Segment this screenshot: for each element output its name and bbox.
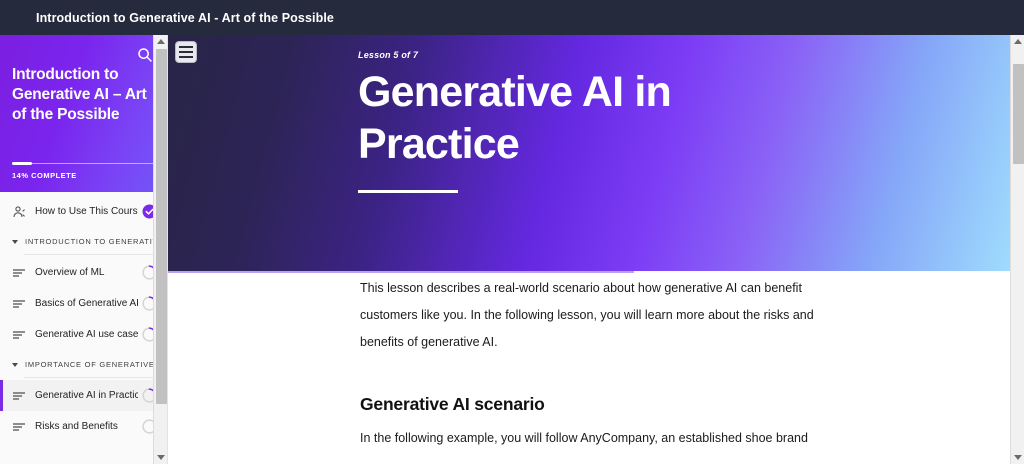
lesson-hero-banner: Lesson 5 of 7 Generative AI in Practice bbox=[168, 35, 1010, 271]
progress-label: 14% COMPLETE bbox=[12, 171, 156, 180]
sidebar-course-header: Introduction to Generative AI – Art of t… bbox=[0, 35, 167, 192]
sidebar-section-label: Introduction to Generative AI bbox=[25, 237, 168, 246]
sidebar-scroll-up-icon[interactable] bbox=[154, 35, 168, 48]
sidebar-scroll-down-icon[interactable] bbox=[154, 451, 168, 464]
sidebar-course-title: Introduction to Generative AI – Art of t… bbox=[12, 65, 155, 125]
person-course-icon bbox=[12, 205, 26, 219]
sidebar-item-label: How to Use This Course bbox=[35, 206, 138, 217]
chevron-down-icon bbox=[12, 363, 18, 367]
lesson-intro-paragraph: This lesson describes a real-world scena… bbox=[360, 275, 822, 356]
lesson-counter: Lesson 5 of 7 bbox=[358, 50, 778, 60]
main-scroll-down-icon[interactable] bbox=[1011, 451, 1024, 464]
lesson-title: Generative AI in Practice bbox=[358, 66, 778, 170]
sidebar-item-generative-ai-use-cases[interactable]: Generative AI use cases bbox=[0, 319, 167, 350]
course-progress: 14% COMPLETE bbox=[12, 163, 156, 180]
sidebar-item-risks-and-benefits[interactable]: Risks and Benefits bbox=[0, 411, 167, 442]
chevron-down-icon bbox=[12, 240, 18, 244]
hamburger-menu-icon[interactable] bbox=[175, 41, 197, 63]
search-icon[interactable] bbox=[137, 47, 153, 63]
sidebar-item-label: Generative AI use cases bbox=[35, 329, 138, 340]
article-lines-icon bbox=[12, 328, 26, 342]
progress-track bbox=[12, 163, 156, 164]
sidebar-item-overview-of-ml[interactable]: Overview of ML bbox=[0, 257, 167, 288]
sidebar-divider bbox=[24, 254, 155, 255]
article-lines-icon bbox=[12, 266, 26, 280]
progress-fill bbox=[12, 162, 32, 165]
scenario-heading: Generative AI scenario bbox=[360, 394, 1010, 415]
sidebar-item-basics-of-generative-ai[interactable]: Basics of Generative AI bbox=[0, 288, 167, 319]
window-title: Introduction to Generative AI - Art of t… bbox=[36, 11, 334, 25]
page-body: Introduction to Generative AI – Art of t… bbox=[0, 35, 1024, 464]
sidebar-divider bbox=[24, 377, 155, 378]
sidebar-section-header[interactable]: Introduction to Generative AI bbox=[0, 227, 167, 252]
sidebar-item-label: Basics of Generative AI bbox=[35, 298, 138, 309]
lesson-main: Lesson 5 of 7 Generative AI in Practice … bbox=[168, 35, 1024, 464]
course-sidebar: Introduction to Generative AI – Art of t… bbox=[0, 35, 168, 464]
window-titlebar: Introduction to Generative AI - Art of t… bbox=[0, 0, 1024, 35]
sidebar-item-how-to-use-this-course[interactable]: How to Use This Course bbox=[0, 196, 167, 227]
sidebar-section-label: Importance of Generative AI bbox=[25, 360, 166, 369]
hero-bottom-accent-line bbox=[168, 271, 634, 273]
article-lines-icon bbox=[12, 297, 26, 311]
sidebar-scrollbar[interactable] bbox=[153, 35, 167, 464]
sidebar-item-label: Risks and Benefits bbox=[35, 421, 138, 432]
sidebar-scroll-thumb[interactable] bbox=[156, 49, 167, 404]
lesson-hero-text: Lesson 5 of 7 Generative AI in Practice bbox=[358, 50, 778, 193]
main-scroll-thumb[interactable] bbox=[1013, 64, 1024, 164]
main-scroll-up-icon[interactable] bbox=[1011, 35, 1024, 48]
main-scrollbar[interactable] bbox=[1010, 35, 1024, 464]
scenario-paragraph: In the following example, you will follo… bbox=[360, 425, 822, 452]
article-lines-icon bbox=[12, 389, 26, 403]
sidebar-section-header[interactable]: Importance of Generative AI bbox=[0, 350, 167, 375]
sidebar-item-generative-ai-in-practice[interactable]: Generative AI in Practice bbox=[0, 380, 167, 411]
sidebar-item-label: Overview of ML bbox=[35, 267, 138, 278]
lesson-content: This lesson describes a real-world scena… bbox=[168, 275, 1010, 452]
sidebar-lesson-list: How to Use This CourseIntroduction to Ge… bbox=[0, 192, 167, 442]
title-underline-rule bbox=[358, 190, 458, 193]
article-lines-icon bbox=[12, 420, 26, 434]
sidebar-item-label: Generative AI in Practice bbox=[35, 390, 138, 401]
